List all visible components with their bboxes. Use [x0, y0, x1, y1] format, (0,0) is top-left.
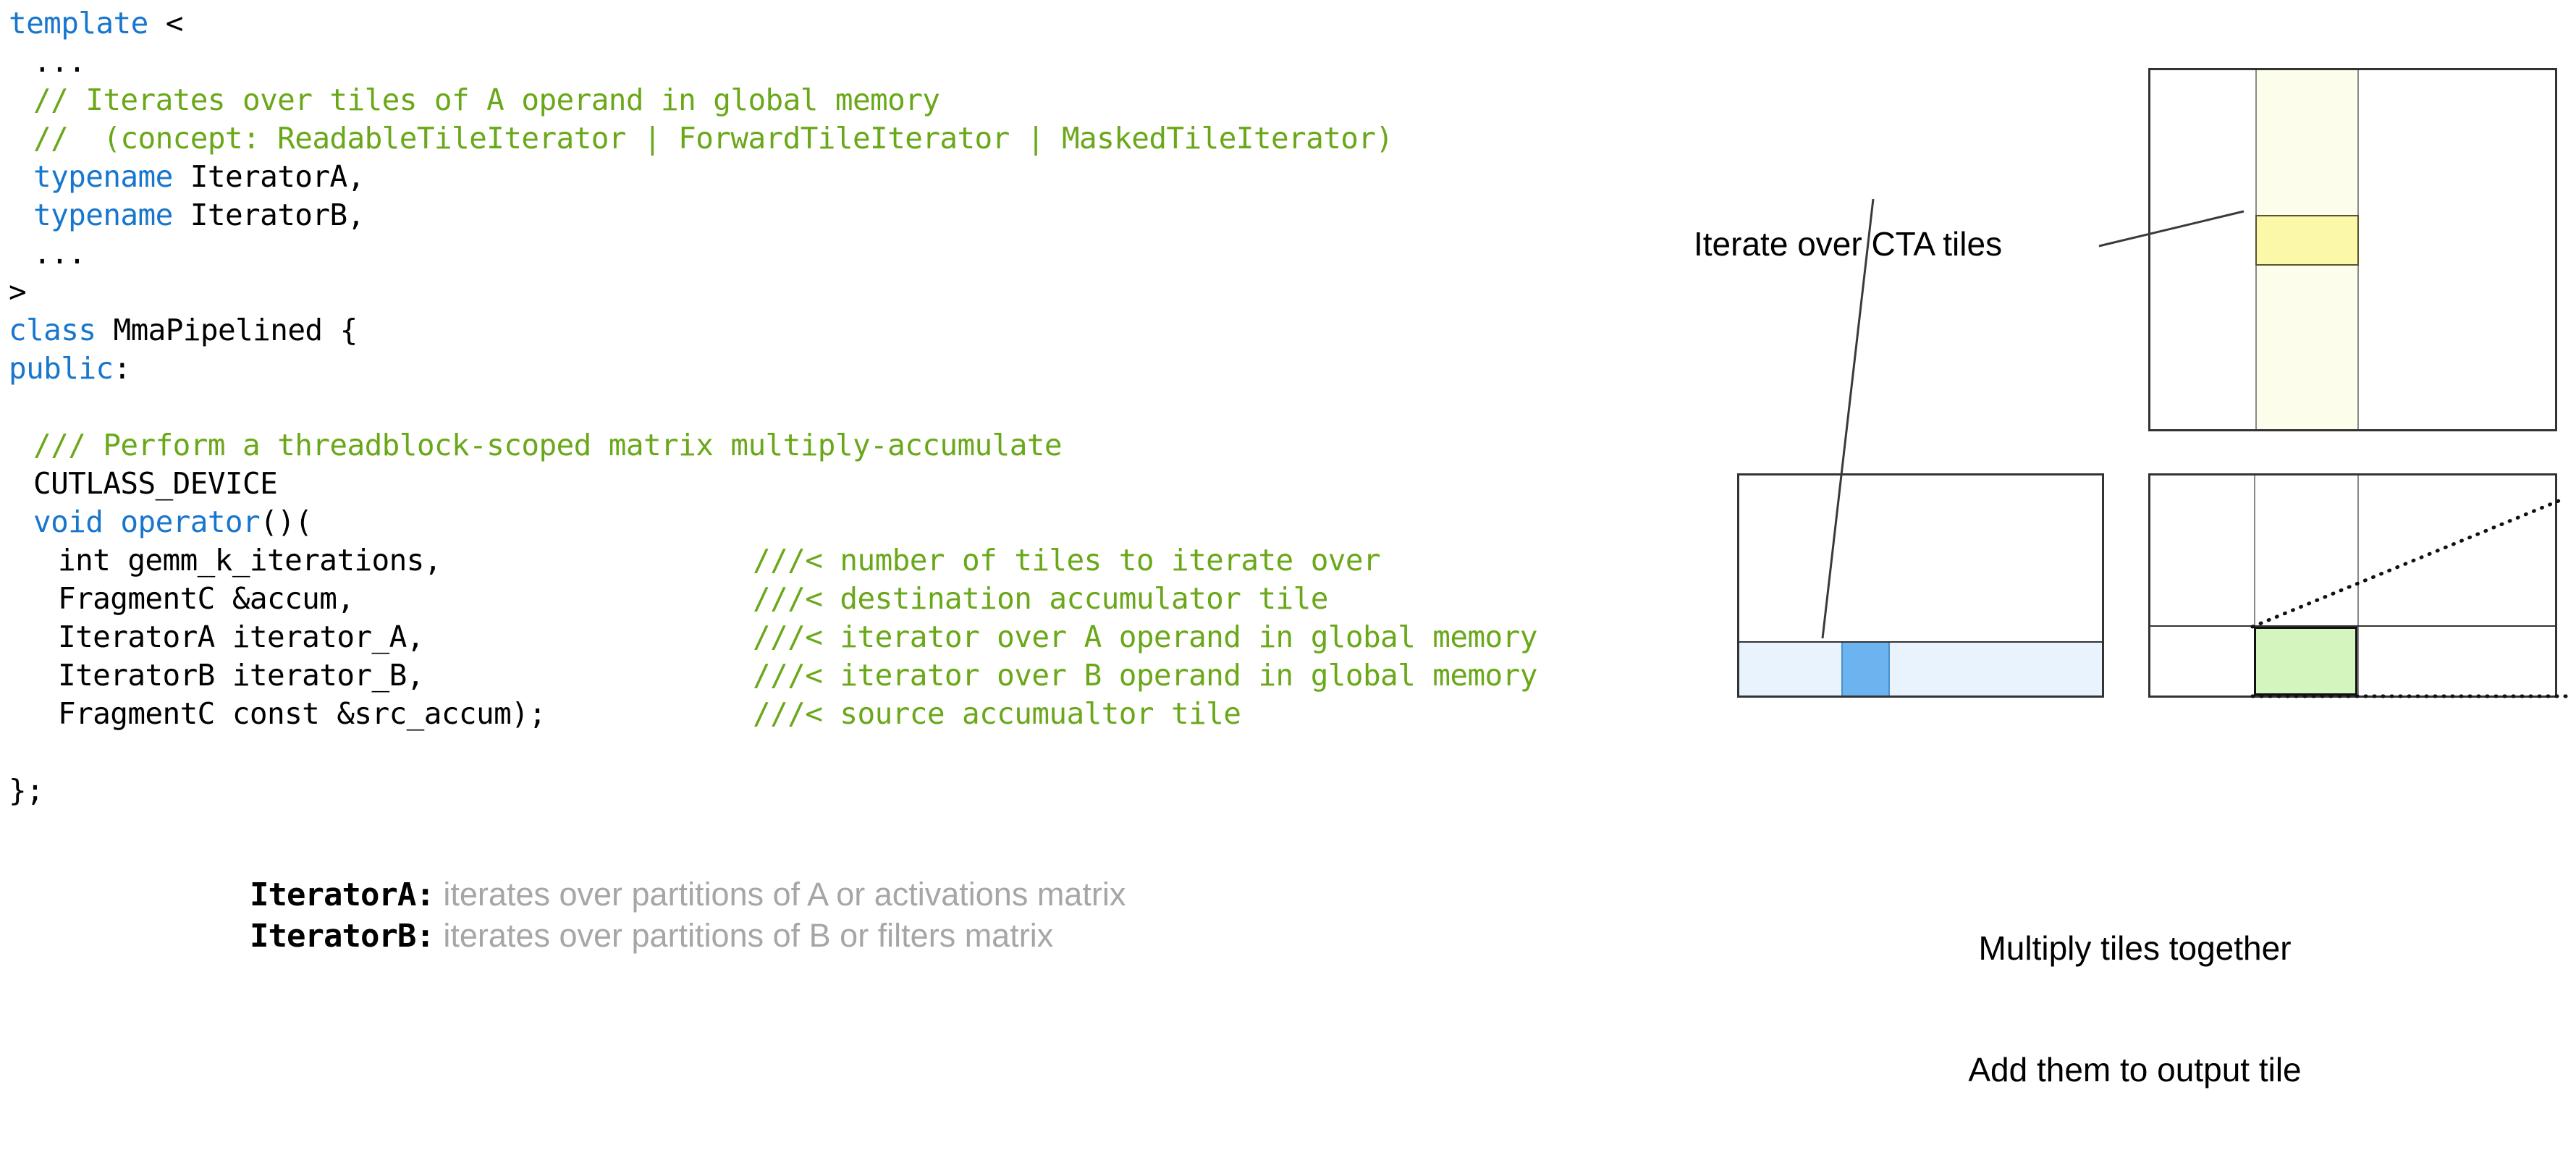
code-token-cmt: // Iterates over tiles of A operand in g… [33, 83, 939, 117]
code-line: FragmentC const &src_accum); [58, 695, 546, 733]
code-token-plain: FragmentC &accum, [58, 581, 354, 616]
code-line: template < [9, 4, 183, 43]
code-line: // Iterates over tiles of A operand in g… [33, 81, 939, 119]
code-panel: template <...// Iterates over tiles of A… [0, 0, 1672, 840]
code-line: /// Perform a threadblock-scoped matrix … [33, 426, 1062, 465]
code-line: public: [9, 350, 131, 388]
code-token-plain: FragmentC const &src_accum); [58, 696, 546, 731]
caption-line-1: Multiply tiles together [1694, 928, 2576, 968]
code-param-comment: ///< source accumualtor tile [753, 695, 1241, 733]
code-token-plain: }; [9, 773, 43, 808]
code-line: // (concept: ReadableTileIterator | Forw… [33, 119, 1393, 158]
code-param-comment: ///< destination accumulator tile [753, 580, 1328, 618]
code-token-plain: int gemm_k_iterations, [58, 543, 442, 578]
code-line: ... [33, 234, 85, 273]
code-token-plain: ... [33, 236, 85, 271]
output-c-active-tile [2254, 627, 2357, 696]
legend-row: IteratorB: iterates over partitions of B… [250, 916, 1480, 957]
legend-key: IteratorA: [250, 876, 434, 913]
iterator-legend: IteratorA: iterates over partitions of A… [250, 874, 1480, 957]
operand-b-row-divider [1739, 641, 2102, 643]
code-token-plain: IteratorB, [173, 198, 365, 232]
output-c-grid-line-2 [2357, 475, 2359, 696]
code-line: CUTLASS_DEVICE [33, 465, 277, 503]
code-token-plain: IteratorA iterator_A, [58, 620, 424, 654]
code-token-cmt: /// Perform a threadblock-scoped matrix … [33, 428, 1062, 462]
code-token-plain: IteratorA, [173, 159, 365, 194]
output-c-tile-box [2148, 473, 2557, 698]
code-token-kw: typename [33, 198, 173, 232]
operand-a-active-tile [2255, 215, 2359, 266]
caption-line-2: Add them to output tile [1694, 1049, 2576, 1090]
legend-description: iterates over partitions of A or activat… [434, 876, 1126, 913]
code-line: typename IteratorB, [33, 196, 365, 234]
code-token-plain: CUTLASS_DEVICE [33, 466, 277, 501]
code-token-plain: ()( [260, 504, 312, 539]
code-token-plain: : [114, 351, 131, 386]
code-param-comment: ///< iterator over B operand in global m… [753, 656, 1537, 695]
multiply-tiles-caption: Multiply tiles together Add them to outp… [1694, 847, 2576, 1171]
code-line: }; [9, 771, 43, 810]
code-line: int gemm_k_iterations, [58, 541, 442, 580]
code-line: FragmentC &accum, [58, 580, 354, 618]
code-token-kw: template [9, 6, 148, 41]
code-token-kw: class [9, 313, 96, 347]
legend-key: IteratorB: [250, 918, 434, 955]
code-line: IteratorA iterator_A, [58, 618, 424, 656]
code-line: class MmaPipelined { [9, 311, 358, 350]
code-token-plain: IteratorB iterator_B, [58, 658, 424, 693]
code-token-plain: ... [33, 44, 85, 79]
code-token-plain: < [148, 6, 183, 41]
operand-b-row-band [1739, 643, 2102, 696]
code-token-plain: > [9, 274, 26, 309]
code-token-plain: MmaPipelined { [96, 313, 357, 347]
code-token-kw: typename [33, 159, 173, 194]
code-line: IteratorB iterator_B, [58, 656, 424, 695]
iterate-over-cta-tiles-label: Iterate over CTA tiles [1694, 224, 2002, 263]
code-param-comment: ///< iterator over A operand in global m… [753, 618, 1537, 656]
legend-row: IteratorA: iterates over partitions of A… [250, 874, 1480, 916]
code-line: typename IteratorA, [33, 158, 365, 196]
legend-description: iterates over partitions of B or filters… [434, 917, 1053, 954]
code-token-cmt: // (concept: ReadableTileIterator | Forw… [33, 121, 1393, 156]
code-token-kw: public [9, 351, 114, 386]
code-line: ... [33, 43, 85, 81]
operand-a-tile-box [2148, 68, 2557, 431]
operand-b-active-tile [1841, 643, 1890, 696]
operand-b-tile-box [1737, 473, 2104, 698]
code-token-kw: void operator [33, 504, 260, 539]
cta-tile-diagram: Iterate over CTA tiles Multiply tiles to… [1694, 0, 2576, 989]
code-line: void operator()( [33, 503, 312, 541]
code-line: > [9, 273, 26, 311]
code-param-comment: ///< number of tiles to iterate over [753, 541, 1380, 580]
